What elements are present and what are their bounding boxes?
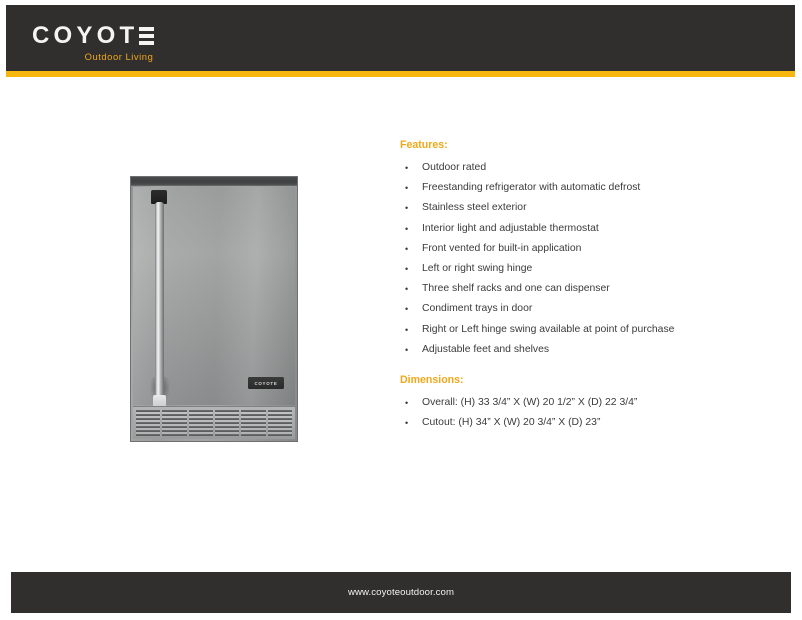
- datasheet-page: COYOT Outdoor Living COYOTE: [0, 0, 802, 620]
- vent-column: [136, 410, 160, 436]
- list-item: Three shelf racks and one can dispenser: [400, 279, 760, 299]
- list-item: Adjustable feet and shelves: [400, 340, 760, 360]
- website-url[interactable]: www.coyoteoutdoor.com: [348, 587, 454, 598]
- vent-grille: [133, 406, 295, 439]
- product-brand-badge-text: COYOTE: [254, 381, 277, 386]
- dimensions-heading: Dimensions:: [400, 374, 760, 386]
- vent-column: [241, 410, 265, 436]
- refrigerator-top-panel: [131, 177, 297, 186]
- brand-logo: COYOT Outdoor Living: [32, 24, 154, 62]
- list-item: Outdoor rated: [400, 158, 760, 178]
- dimensions-list: Overall: (H) 33 3/4” X (W) 20 1/2” X (D)…: [400, 393, 760, 433]
- list-item: Stainless steel exterior: [400, 198, 760, 218]
- vent-column: [268, 410, 292, 436]
- brand-tagline: Outdoor Living: [32, 51, 154, 62]
- features-heading: Features:: [400, 139, 760, 151]
- list-item: Right or Left hinge swing available at p…: [400, 320, 760, 340]
- vent-column: [189, 410, 213, 436]
- features-list: Outdoor rated Freestanding refrigerator …: [400, 158, 760, 360]
- list-item: Front vented for built-in application: [400, 239, 760, 259]
- list-item: Overall: (H) 33 3/4” X (W) 20 1/2” X (D)…: [400, 393, 760, 413]
- page-footer: www.coyoteoutdoor.com: [11, 572, 791, 613]
- stylized-e-icon: [139, 27, 154, 45]
- refrigerator-door: COYOTE: [133, 187, 295, 405]
- list-item: Freestanding refrigerator with automatic…: [400, 178, 760, 198]
- list-item: Interior light and adjustable thermostat: [400, 219, 760, 239]
- refrigerator-body: COYOTE: [130, 176, 298, 442]
- list-item: Cutout: (H) 34” X (W) 20 3/4” X (D) 23”: [400, 413, 760, 433]
- product-brand-badge: COYOTE: [248, 377, 284, 389]
- list-item: Left or right swing hinge: [400, 259, 760, 279]
- page-header: COYOT Outdoor Living: [6, 5, 795, 71]
- vent-column: [215, 410, 239, 436]
- dimensions-section: Dimensions: Overall: (H) 33 3/4” X (W) 2…: [400, 374, 760, 433]
- header-accent-stripe: [6, 71, 795, 77]
- vent-column: [162, 410, 186, 436]
- brand-logo-wordmark: COYOT: [32, 24, 154, 48]
- features-section: Features: Outdoor rated Freestanding ref…: [400, 139, 760, 360]
- specifications-panel: Features: Outdoor rated Freestanding ref…: [400, 139, 760, 433]
- brand-logo-text: COYOT: [32, 24, 138, 48]
- product-image: COYOTE: [130, 176, 298, 442]
- door-handle: [155, 202, 164, 400]
- list-item: Condiment trays in door: [400, 299, 760, 319]
